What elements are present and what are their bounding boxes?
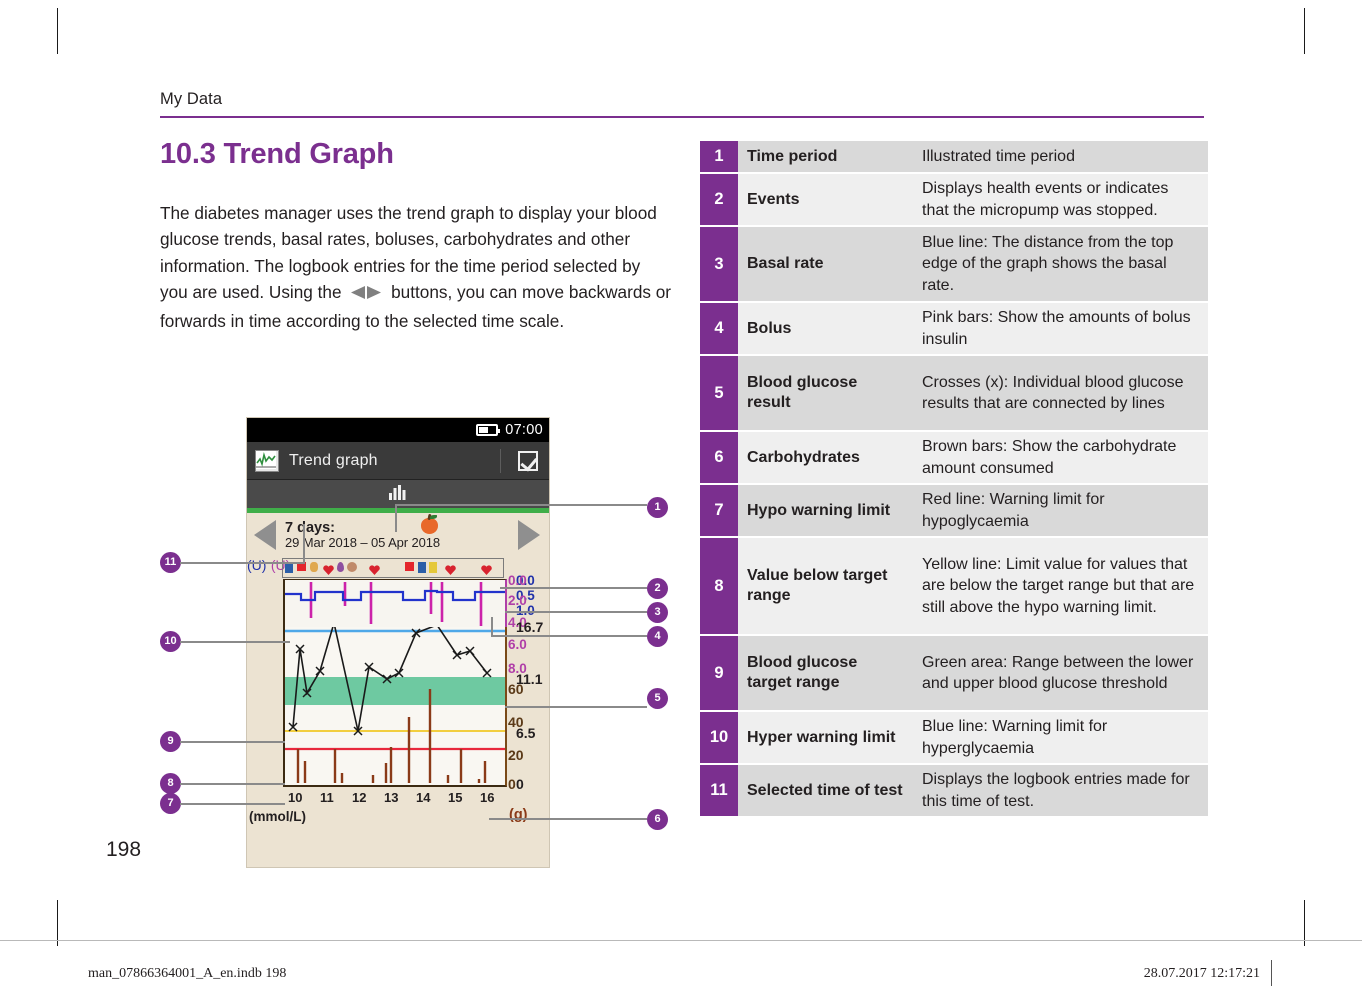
axis-tick-insulin-right-0: 0.0 xyxy=(508,573,527,588)
leader-line-8 xyxy=(180,783,285,785)
row-description: Crosses (x): Individual blood glucose re… xyxy=(913,356,1208,432)
callout-10: 10 xyxy=(160,631,181,652)
table-row: 11 Selected time of test Displays the lo… xyxy=(700,765,1208,818)
basal-bolus-svg xyxy=(285,580,505,628)
row-description: Illustrated time period xyxy=(913,141,1208,174)
callout-8: 8 xyxy=(160,773,181,794)
callout-6: 6 xyxy=(647,809,668,830)
row-number: 1 xyxy=(700,141,738,174)
glucose-carbs-svg xyxy=(285,627,505,785)
page-title: 10.3 Trend Graph xyxy=(160,138,394,171)
table-row: 10 Hyper warning limit Blue line: Warnin… xyxy=(700,712,1208,765)
axis-tick-glucose-0: 16.7 xyxy=(516,619,549,635)
status-bar: 07:00 xyxy=(247,418,549,442)
callout-4: 4 xyxy=(647,626,668,647)
row-description: Displays the logbook entries made for th… xyxy=(913,765,1208,818)
row-term: Blood glucose result xyxy=(738,356,913,432)
trend-graph-icon xyxy=(255,450,279,472)
leader-line-11-v xyxy=(303,524,305,562)
date-navigation: 7 days: 29 Mar 2018 – 05 Apr 2018 xyxy=(247,513,549,557)
callout-7: 7 xyxy=(160,793,181,814)
leader-line-7 xyxy=(180,803,285,805)
row-number: 11 xyxy=(700,765,738,818)
leader-line-4 xyxy=(491,635,647,637)
footer-right: 28.07.2017 12:17:21 xyxy=(1144,966,1260,982)
title-bar-divider xyxy=(500,449,501,473)
callout-5: 5 xyxy=(647,688,668,709)
leader-line-1 xyxy=(395,504,647,506)
row-description: Brown bars: Show the carbohydrate amount… xyxy=(913,432,1208,485)
callout-9: 9 xyxy=(160,731,181,752)
row-description: Displays health events or indicates that… xyxy=(913,174,1208,227)
row-term: Blood glucose target range xyxy=(738,636,913,712)
apple-icon[interactable] xyxy=(421,518,438,534)
row-term: Basal rate xyxy=(738,227,913,303)
header-rule xyxy=(160,116,1204,118)
axis-tick-glucose-3: 0 xyxy=(516,776,549,792)
row-number: 3 xyxy=(700,227,738,303)
row-description: Green area: Range between the lower and … xyxy=(913,636,1208,712)
row-number: 10 xyxy=(700,712,738,765)
axis-tick-x-5: 15 xyxy=(448,790,462,805)
row-term: Selected time of test xyxy=(738,765,913,818)
basal-rate-line xyxy=(285,591,505,600)
table-row: 6 Carbohydrates Brown bars: Show the car… xyxy=(700,432,1208,485)
manual-page: My Data 10.3 Trend Graph The diabetes ma… xyxy=(0,0,1362,996)
row-term: Bolus xyxy=(738,303,913,356)
footer-rule xyxy=(0,940,1362,941)
date-range: 7 days: 29 Mar 2018 – 05 Apr 2018 xyxy=(285,520,440,551)
axis-tick-carbs-1: 40 xyxy=(508,714,524,730)
footer-left: man_07866364001_A_en.indb 198 xyxy=(88,966,286,982)
glucose-carbs-panel xyxy=(283,627,507,787)
table-row: 4 Bolus Pink bars: Show the amounts of b… xyxy=(700,303,1208,356)
event-row-frame xyxy=(282,558,504,578)
leader-line-4-v xyxy=(491,617,493,635)
checkbox-checked-icon[interactable] xyxy=(518,451,538,471)
row-number: 4 xyxy=(700,303,738,356)
callout-3: 3 xyxy=(647,602,668,623)
axis-tick-carbs-2: 20 xyxy=(508,747,524,763)
axis-tick-insulin-right-1: 2.0 xyxy=(508,593,527,608)
target-range-band xyxy=(285,677,505,705)
nav-arrows-icon xyxy=(349,281,383,307)
table-row: 8 Value below target range Yellow line: … xyxy=(700,538,1208,636)
footer-divider xyxy=(1271,960,1272,986)
table-row: 1 Time period Illustrated time period xyxy=(700,141,1208,174)
leader-line-5 xyxy=(505,706,647,708)
row-term: Hypo warning limit xyxy=(738,485,913,538)
row-description: Pink bars: Show the amounts of bolus ins… xyxy=(913,303,1208,356)
axis-tick-carbs-0: 60 xyxy=(508,681,524,697)
leader-line-11 xyxy=(180,562,305,564)
leader-line-9 xyxy=(180,741,285,743)
leader-line-2 xyxy=(500,587,647,589)
row-description: Blue line: The distance from the top edg… xyxy=(913,227,1208,303)
running-head: My Data xyxy=(160,90,1204,109)
crop-mark-top-left xyxy=(57,8,58,54)
device-title: Trend graph xyxy=(289,452,378,470)
axis-tick-x-2: 12 xyxy=(352,790,366,805)
row-term: Events xyxy=(738,174,913,227)
row-term: Carbohydrates xyxy=(738,432,913,485)
leader-line-3 xyxy=(505,611,647,613)
table-row: 7 Hypo warning limit Red line: Warning l… xyxy=(700,485,1208,538)
row-description: Blue line: Warning limit for hyperglycae… xyxy=(913,712,1208,765)
row-number: 6 xyxy=(700,432,738,485)
callout-1: 1 xyxy=(647,497,668,518)
leader-line-6 xyxy=(489,818,647,820)
table-row: 9 Blood glucose target range Green area:… xyxy=(700,636,1208,712)
axis-tick-x-1: 11 xyxy=(320,790,334,805)
row-description: Yellow line: Limit value for values that… xyxy=(913,538,1208,636)
bar-chart-icon[interactable] xyxy=(388,484,408,505)
trend-graph-plot: (U) (U) xyxy=(247,557,549,867)
row-description: Red line: Warning limit for hypoglycaemi… xyxy=(913,485,1208,538)
row-term: Value below target range xyxy=(738,538,913,636)
row-number: 7 xyxy=(700,485,738,538)
table-row: 2 Events Displays health events or indic… xyxy=(700,174,1208,227)
legend-table: 1 Time period Illustrated time period 2 … xyxy=(700,141,1208,818)
leader-line-1-v xyxy=(395,504,397,532)
axis-tick-x-4: 14 xyxy=(416,790,430,805)
date-range-label: 7 days: xyxy=(285,520,440,536)
row-number: 8 xyxy=(700,538,738,636)
row-term: Time period xyxy=(738,141,913,174)
page-number: 198 xyxy=(106,838,141,862)
device-title-bar: Trend graph xyxy=(247,442,549,480)
row-number: 2 xyxy=(700,174,738,227)
triangle-right-icon[interactable] xyxy=(518,520,540,550)
bolus-bars xyxy=(311,582,481,626)
device-screenshot: 07:00 Trend graph xyxy=(247,418,549,867)
body-paragraph: The diabetes manager uses the trend grap… xyxy=(160,200,672,334)
row-term: Hyper warning limit xyxy=(738,712,913,765)
callout-11: 11 xyxy=(160,552,181,573)
triangle-left-icon[interactable] xyxy=(254,520,276,550)
table-row: 3 Basal rate Blue line: The distance fro… xyxy=(700,227,1208,303)
callout-2: 2 xyxy=(647,578,668,599)
battery-icon xyxy=(476,424,498,436)
date-range-value: 29 Mar 2018 – 05 Apr 2018 xyxy=(285,536,440,551)
axis-tick-insulin-right-3: 6.0 xyxy=(508,637,527,652)
axis-unit-bottom-right: (g) xyxy=(509,807,528,823)
leader-line-10 xyxy=(180,641,290,643)
axis-unit-bottom-left: (mmol/L) xyxy=(249,809,306,824)
table-row: 5 Blood glucose result Crosses (x): Indi… xyxy=(700,356,1208,432)
axis-tick-carbs-3: 0 xyxy=(508,776,516,792)
axis-tick-x-0: 10 xyxy=(288,790,302,805)
insulin-panel xyxy=(283,579,507,628)
axis-unit-top-left: (U) xyxy=(247,557,266,573)
status-clock: 07:00 xyxy=(505,422,543,438)
row-number: 9 xyxy=(700,636,738,712)
axis-tick-x-3: 13 xyxy=(384,790,398,805)
crop-mark-top-right xyxy=(1304,8,1305,54)
axis-tick-x-6: 16 xyxy=(480,790,494,805)
row-number: 5 xyxy=(700,356,738,432)
